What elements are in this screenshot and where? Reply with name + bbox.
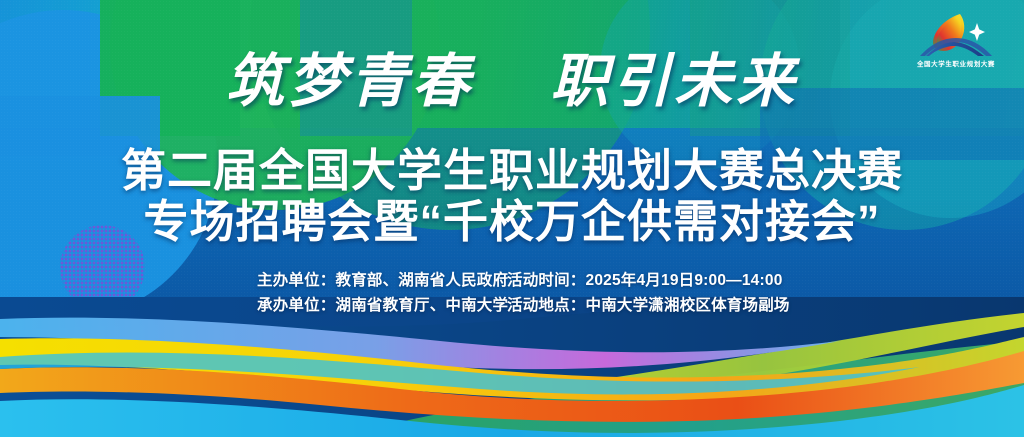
- calligraphy-slogan: 筑梦青春 职引未来: [0, 52, 1024, 110]
- title-line-1: 第二届全国大学生职业规划大赛总决赛: [0, 146, 1024, 196]
- decorative-wave-ribbons: [0, 297, 1024, 437]
- slogan-part-2: 职引未来: [550, 47, 798, 115]
- event-venue-label: 活动地点：中南大学潇湘校区体育场副场: [507, 297, 767, 315]
- event-banner: 全国大学生职业规划大赛 筑梦青春 职引未来 第二届全国大学生职业规划大赛总决赛 …: [0, 0, 1024, 437]
- event-info-block: 主办单位：教育部、湖南省人民政府 活动时间：2025年4月19日9:00—14:…: [0, 272, 1024, 315]
- slogan-part-1: 筑梦青春: [226, 47, 474, 115]
- co-organizer-label: 承办单位：湖南省教育厅、中南大学: [257, 297, 507, 315]
- info-row: 主办单位：教育部、湖南省人民政府 活动时间：2025年4月19日9:00—14:…: [257, 272, 767, 290]
- organizer-label: 主办单位：教育部、湖南省人民政府: [257, 272, 507, 290]
- info-row: 承办单位：湖南省教育厅、中南大学 活动地点：中南大学潇湘校区体育场副场: [257, 297, 767, 315]
- page-title: 第二届全国大学生职业规划大赛总决赛 专场招聘会暨“千校万企供需对接会”: [0, 146, 1024, 248]
- title-line-2: 专场招聘会暨“千校万企供需对接会”: [0, 196, 1024, 248]
- event-time-label: 活动时间：2025年4月19日9:00—14:00: [507, 272, 767, 290]
